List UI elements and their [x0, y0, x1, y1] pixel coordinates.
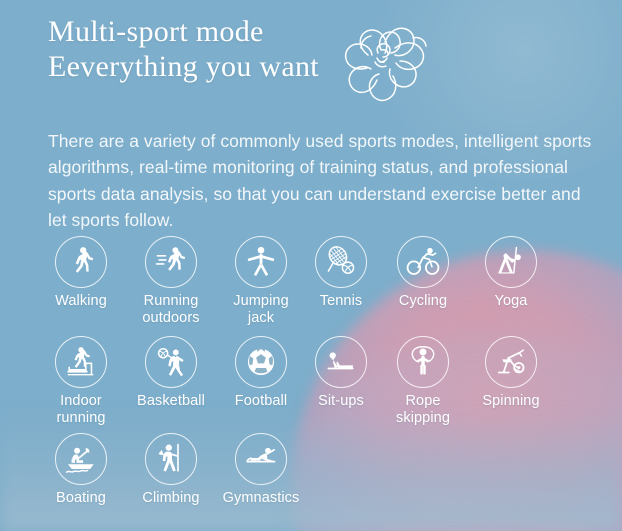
- sport-label: Yoga: [459, 293, 563, 310]
- promo-banner: Multi-sport mode Eeverything you want Th…: [0, 0, 622, 531]
- spinning-bike-icon: [485, 336, 537, 388]
- sport-item-climbing[interactable]: Climbing: [119, 429, 223, 507]
- page-title-line1: Multi-sport mode: [48, 14, 319, 49]
- sport-item-boating[interactable]: Boating: [29, 429, 133, 507]
- gymnastics-icon: [235, 433, 287, 485]
- sports-row: IndoorrunningBasketballFootballSit-upsRo…: [0, 332, 622, 428]
- sport-item-basketball[interactable]: Basketball: [119, 332, 223, 410]
- rope-skipping-icon: [397, 336, 449, 388]
- sport-item-gymnastics[interactable]: Gymnastics: [209, 429, 313, 507]
- sport-item-running-outdoors[interactable]: Runningoutdoors: [119, 232, 223, 326]
- running-icon: [145, 236, 197, 288]
- sport-label: Spinning: [459, 393, 563, 410]
- sport-item-yoga[interactable]: Yoga: [459, 232, 563, 310]
- jumping-jack-icon: [235, 236, 287, 288]
- sport-label: Runningoutdoors: [119, 293, 223, 326]
- sport-label: Walking: [29, 293, 133, 310]
- sport-item-spinning[interactable]: Spinning: [459, 332, 563, 410]
- basketball-icon: [145, 336, 197, 388]
- sit-ups-icon: [315, 336, 367, 388]
- page-title-line2: Eeverything you want: [48, 49, 319, 84]
- sports-row: WalkingRunningoutdoorsJumpingjackTennisC…: [0, 232, 622, 328]
- boating-icon: [55, 433, 107, 485]
- sports-row: BoatingClimbingGymnastics: [0, 429, 622, 525]
- walking-icon: [55, 236, 107, 288]
- sport-label: Basketball: [119, 393, 223, 410]
- sport-item-walking[interactable]: Walking: [29, 232, 133, 310]
- sport-label: Indoorrunning: [29, 393, 133, 426]
- sport-label: Boating: [29, 490, 133, 507]
- yoga-icon: [485, 236, 537, 288]
- intro-paragraph: There are a variety of commonly used spo…: [48, 128, 604, 234]
- climbing-icon: [145, 433, 197, 485]
- sport-item-indoor-running[interactable]: Indoorrunning: [29, 332, 133, 426]
- tennis-icon: [315, 236, 367, 288]
- sport-label: Gymnastics: [209, 490, 313, 507]
- sport-label: Climbing: [119, 490, 223, 507]
- heading-block: Multi-sport mode Eeverything you want: [48, 14, 319, 84]
- cycling-icon: [397, 236, 449, 288]
- treadmill-icon: [55, 336, 107, 388]
- football-icon: [235, 336, 287, 388]
- flower-icon: [325, 6, 437, 108]
